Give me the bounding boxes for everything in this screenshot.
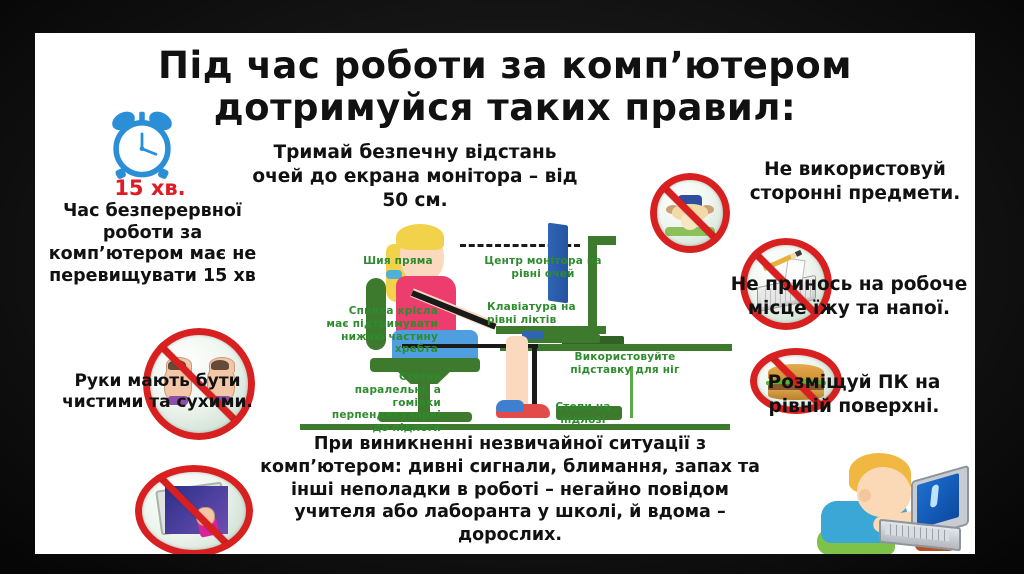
page-title: Під час роботи за комп’ютером дотримуйся… xyxy=(95,45,915,129)
safe-distance-text: Тримай безпечну відстань очей до екрана … xyxy=(250,141,580,213)
no-pets-icon xyxy=(650,173,730,253)
clean-hands-text: Руки мають бути чистими та сухими. xyxy=(50,371,265,414)
emergency-instructions-text: При виникненні незвичайної ситуації з ко… xyxy=(250,433,770,547)
diagram-keyboard-tray xyxy=(496,326,606,334)
continuous-work-text: Час безперервної роботи за комп’ютером м… xyxy=(40,201,265,288)
label-neck-straight: Шия пряма xyxy=(353,255,443,268)
label-thighs-parallel: Стегна паралельні, а гомілки перпендикул… xyxy=(323,371,441,435)
label-use-footrest: Використовуйте підставку для ніг xyxy=(565,351,685,377)
boy-ear xyxy=(859,489,871,502)
slide-canvas: Під час роботи за комп’ютером дотримуйся… xyxy=(0,0,1024,574)
no-food-at-workplace-text: Не принось на робоче місце їжу та напої. xyxy=(720,273,975,320)
label-chair-back: Спинка крісла має підтримувати нижню час… xyxy=(323,305,438,356)
diagram-lower-leg xyxy=(506,336,528,410)
minutes-badge: 15 хв. xyxy=(45,177,255,200)
boy-with-laptop-icon xyxy=(815,451,965,554)
label-monitor-eye-level: Центр монітора на рівні очей xyxy=(483,255,603,281)
label-feet-on-floor: Стопи на підлозі xyxy=(547,401,619,427)
alarm-clock-icon xyxy=(105,108,179,182)
flat-surface-text: Розміщуй ПК на рівній поверхні. xyxy=(735,371,973,418)
no-touch-monitor-icon xyxy=(135,465,253,554)
diagram-shoe-toe xyxy=(496,400,524,412)
no-foreign-objects-text: Не використовуй сторонні предмети. xyxy=(735,158,975,205)
title-line-1: Під час роботи за комп’ютером xyxy=(95,45,915,87)
label-keyboard-elbow: Клавіатура на рівні ліктів xyxy=(487,301,597,327)
title-line-2: дотримуйся таких правил: xyxy=(95,87,915,129)
diagram-hair-top xyxy=(396,224,444,250)
diagram-shin-line xyxy=(532,344,537,408)
poster: Під час роботи за комп’ютером дотримуйся… xyxy=(35,33,975,554)
